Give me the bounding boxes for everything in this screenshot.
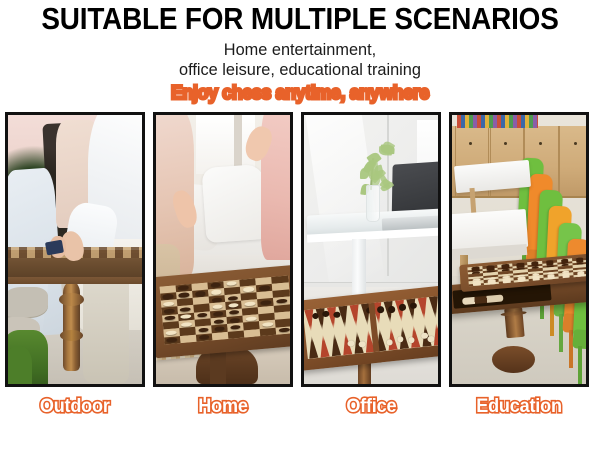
- table-column: [210, 352, 226, 384]
- chess-table-with-drawer: [452, 259, 586, 353]
- office-scene-image: [304, 115, 438, 384]
- panel-label-office: Office: [346, 394, 396, 420]
- panel-labels: Outdoor Home Office Education: [5, 394, 595, 428]
- poster: SUITABLE FOR MULTIPLE SCENARIOS Home ent…: [0, 2, 600, 452]
- education-scene-image: [452, 115, 586, 384]
- scenario-panel-strip: [5, 112, 595, 387]
- grass-patch-2: [8, 346, 32, 384]
- label-cell-home: Home: [153, 394, 293, 428]
- home-scene-image: [156, 115, 290, 384]
- scenario-panel-outdoor: [5, 112, 145, 387]
- header: SUITABLE FOR MULTIPLE SCENARIOS Home ent…: [0, 2, 600, 105]
- panel-label-home: Home: [198, 394, 247, 420]
- checkers-table: [156, 265, 290, 358]
- panel-label-outdoor: Outdoor: [40, 394, 110, 420]
- paving-stone-1: [8, 287, 48, 317]
- scenario-panel-office: [301, 112, 441, 387]
- pedestal-knob-upper: [59, 293, 84, 306]
- backgammon-table: [304, 285, 438, 371]
- scenario-panel-home: [153, 112, 293, 387]
- label-cell-office: Office: [301, 394, 441, 428]
- subtitle-line-1: Home entertainment,: [12, 40, 588, 60]
- panel-label-education: Education: [476, 394, 562, 420]
- tagline: Enjoy chess anytime, anywhere: [21, 83, 579, 105]
- glass-vase: [366, 185, 380, 222]
- outdoor-scene-image: [8, 115, 142, 384]
- scenario-panel-education: [449, 112, 589, 387]
- wall-corner: [387, 115, 389, 276]
- shelf-supplies: [457, 115, 537, 128]
- page-title: SUITABLE FOR MULTIPLE SCENARIOS: [30, 2, 570, 36]
- label-cell-outdoor: Outdoor: [5, 394, 145, 428]
- sofa-cushion-right: [202, 164, 269, 243]
- person-right-trousers: [83, 276, 129, 384]
- pedestal-knob-lower: [60, 330, 83, 341]
- label-cell-education: Education: [449, 394, 589, 428]
- subtitle-line-2: office leisure, educational training: [12, 60, 588, 80]
- checkers-board-grid: [159, 275, 290, 344]
